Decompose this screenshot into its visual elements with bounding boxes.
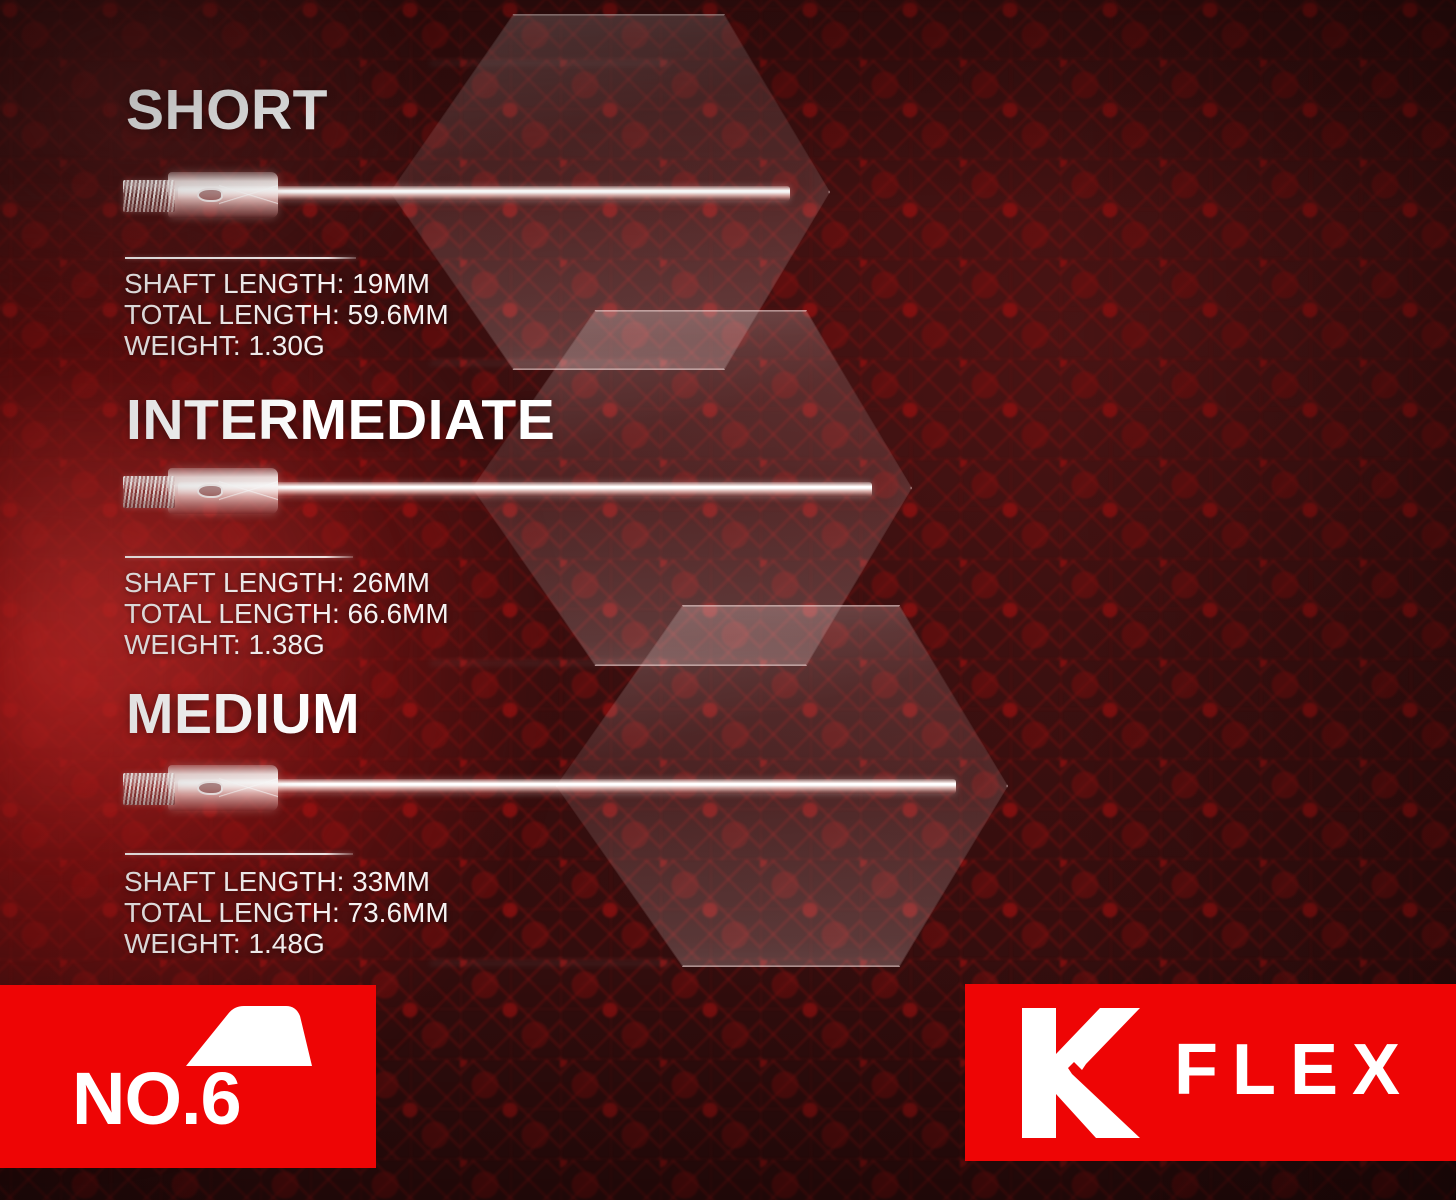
brand-k-logo-icon — [1022, 1008, 1140, 1138]
product-infographic: SHORT SHAFT LENGTH: 19MM TOTAL LENGTH: 5… — [0, 0, 1456, 1200]
brand-badge: FLEX — [1022, 1006, 1422, 1141]
brand-word-label: FLEX — [1174, 1034, 1414, 1106]
model-badge-label: NO.6 — [72, 1062, 342, 1136]
model-badge: NO.6 — [72, 1000, 342, 1150]
